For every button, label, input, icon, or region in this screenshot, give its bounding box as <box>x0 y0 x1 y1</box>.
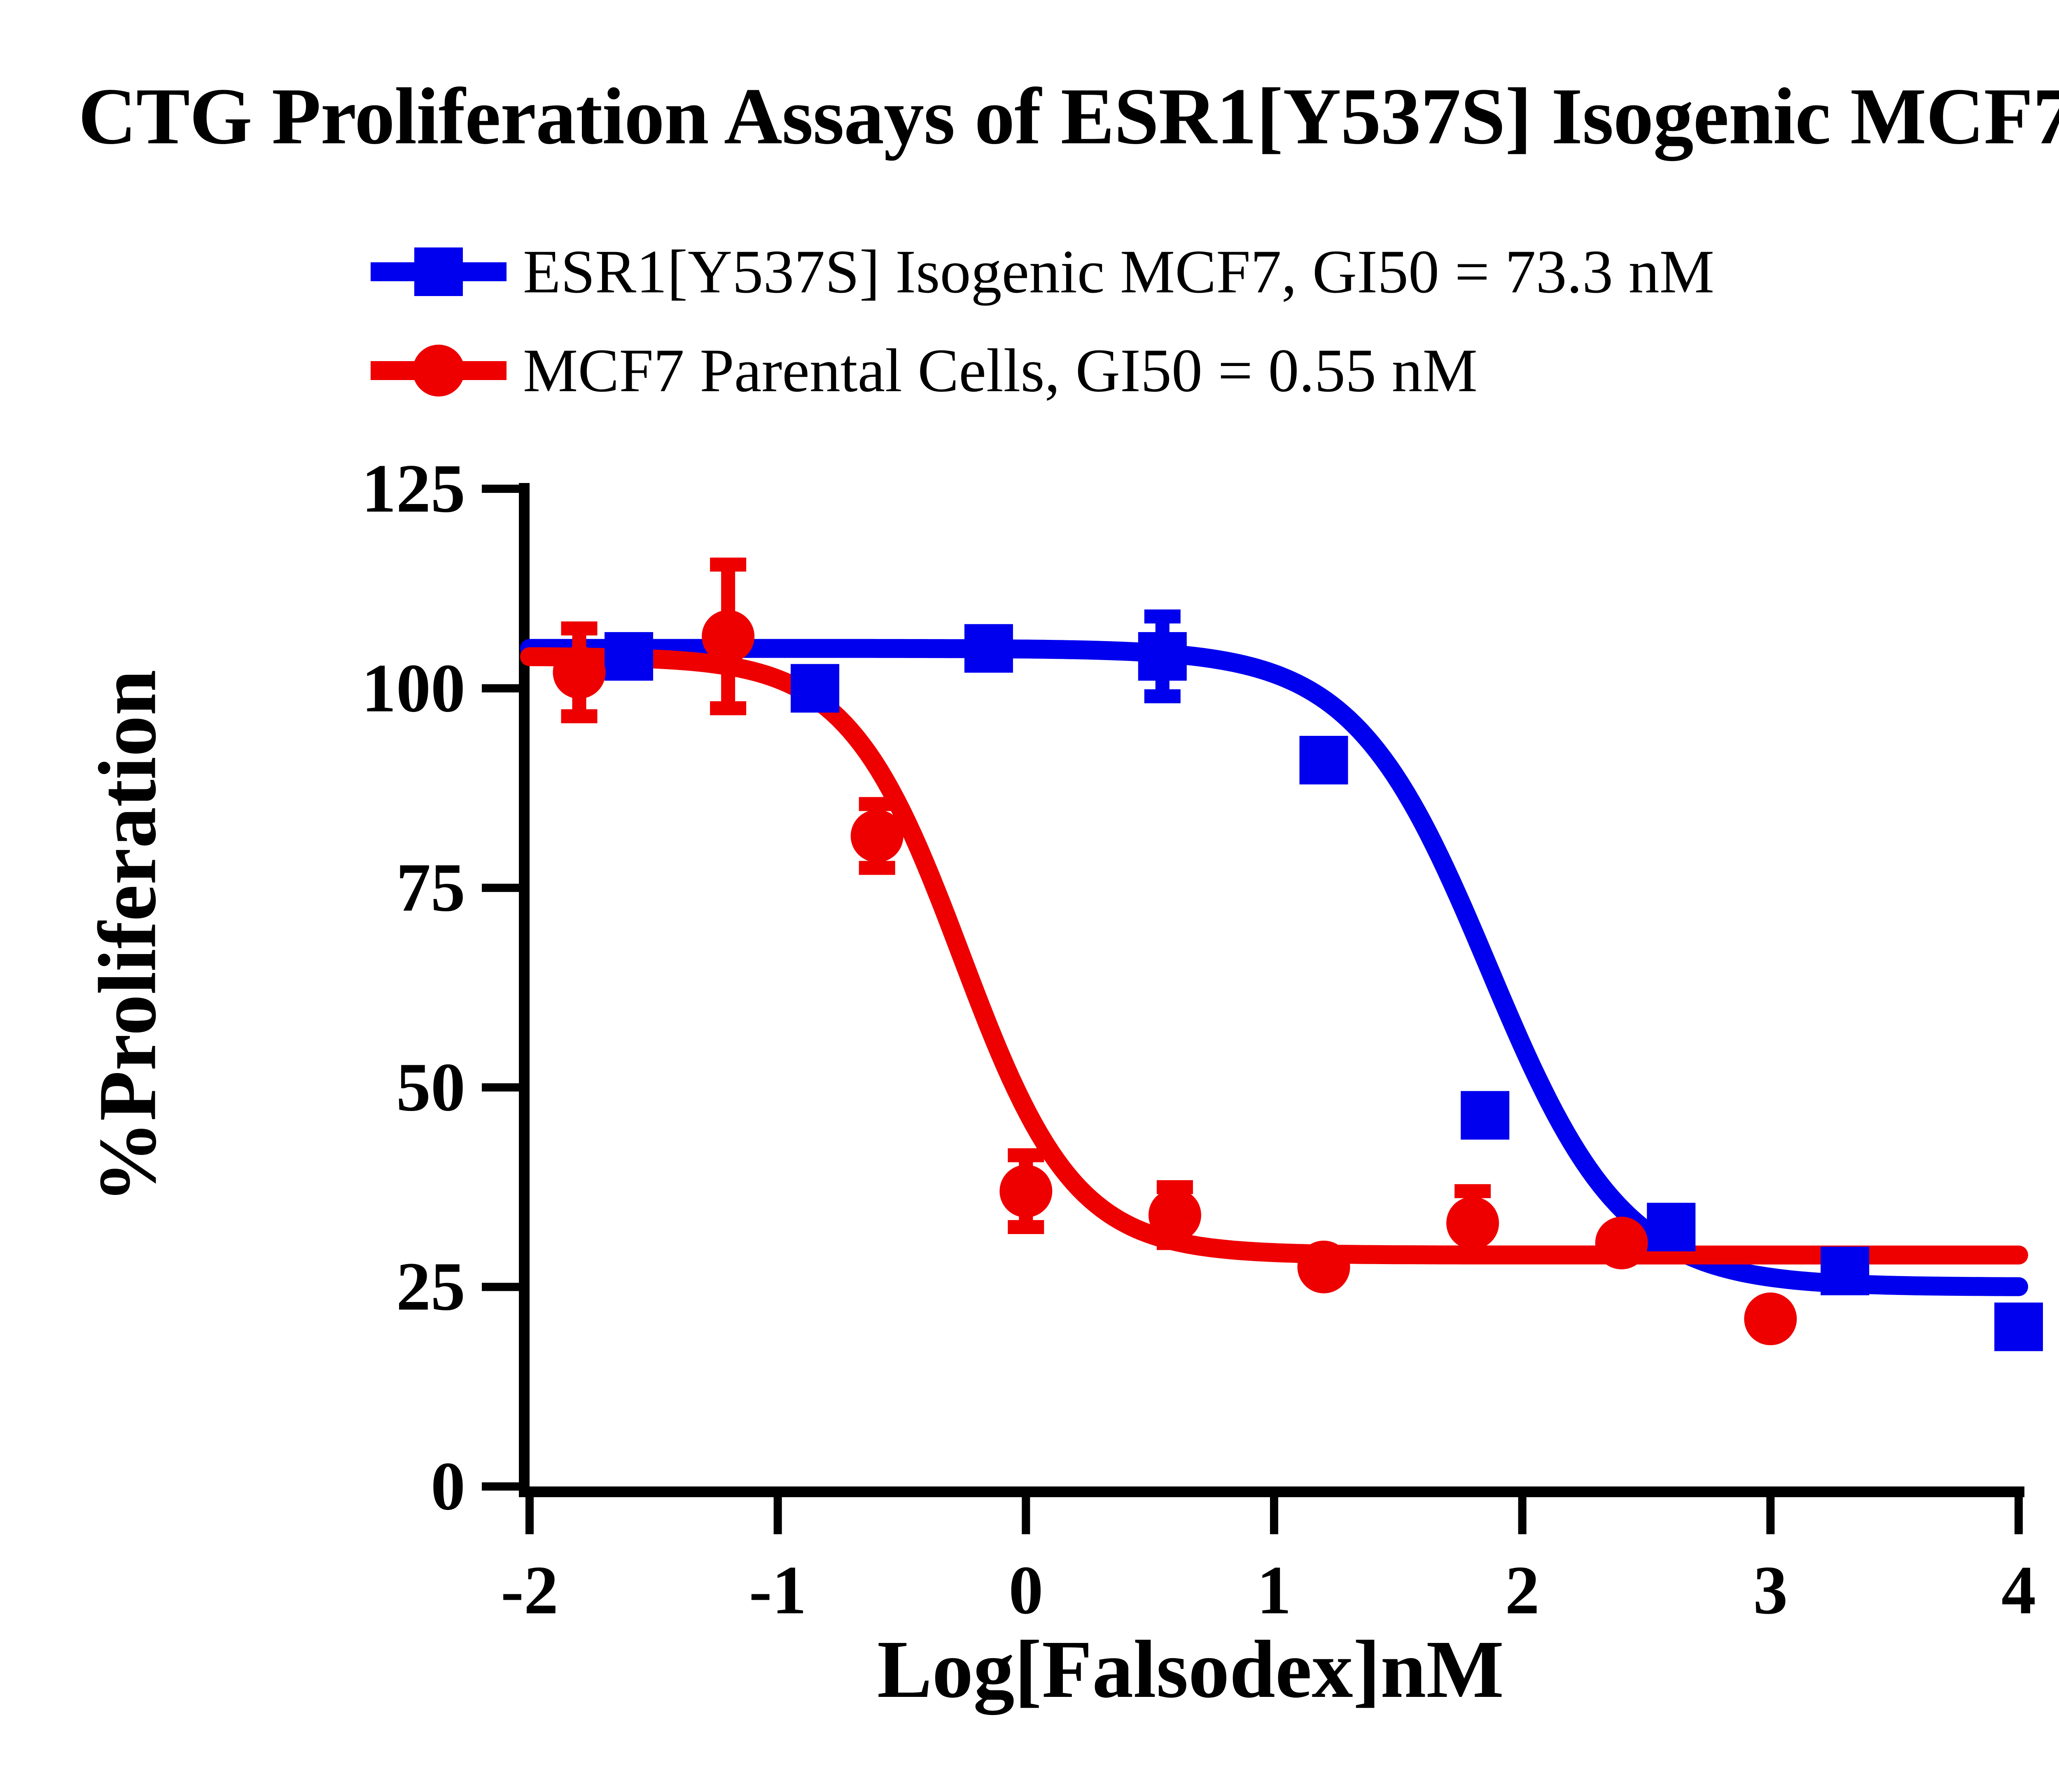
x-tick <box>1518 1497 1527 1534</box>
circle-marker-icon <box>999 1165 1052 1218</box>
y-tick <box>482 485 519 493</box>
y-tick <box>482 1283 519 1291</box>
y-tick-label: 50 <box>292 1048 465 1127</box>
square-marker-icon <box>1138 632 1187 681</box>
y-tick <box>482 1482 519 1491</box>
chart-root: CTG Proliferation Assays of ESR1[Y537S] … <box>0 0 2059 1792</box>
error-bar-cap <box>859 861 895 875</box>
square-marker-icon <box>1821 1247 1869 1295</box>
circle-marker-icon <box>851 810 903 862</box>
circle-marker-icon <box>1149 1189 1201 1241</box>
y-tick <box>482 884 519 892</box>
square-marker-icon <box>791 664 839 713</box>
x-tick-label: 1 <box>1212 1551 1336 1630</box>
circle-marker-icon <box>1595 1217 1648 1269</box>
x-tick-label: -2 <box>468 1551 591 1630</box>
x-tick-label: 0 <box>964 1551 1088 1630</box>
y-tick <box>482 1083 519 1092</box>
circle-marker-icon <box>553 646 606 699</box>
y-tick <box>482 684 519 693</box>
error-bar-cap <box>1454 1248 1491 1262</box>
x-tick <box>1766 1497 1774 1534</box>
error-bar-cap <box>1144 689 1181 703</box>
fit-curves <box>530 649 2019 1287</box>
error-bar-cap <box>859 797 895 811</box>
x-axis-line <box>519 1486 2024 1497</box>
circle-marker-icon <box>702 610 754 663</box>
x-tick <box>525 1497 534 1534</box>
circle-marker-icon <box>1744 1293 1797 1345</box>
square-marker-icon <box>1647 1203 1695 1251</box>
error-bar-cap <box>710 558 746 572</box>
x-tick <box>1270 1497 1278 1534</box>
y-tick-label: 100 <box>292 649 465 728</box>
error-bar-cap <box>1008 1220 1044 1234</box>
y-axis-title: %Proliferation <box>81 525 175 1349</box>
fit-curve <box>530 657 2019 1255</box>
circle-marker-icon <box>1446 1197 1499 1249</box>
y-tick-label: 0 <box>292 1447 465 1526</box>
x-tick <box>774 1497 782 1534</box>
error-bar-cap <box>710 701 746 715</box>
circle-marker-icon <box>1298 1241 1350 1293</box>
error-bar-cap <box>1454 1184 1491 1198</box>
x-tick <box>2015 1497 2023 1534</box>
y-tick-label: 125 <box>292 449 465 529</box>
square-marker-icon <box>605 632 653 681</box>
error-bar-cap <box>1144 609 1181 623</box>
data-markers <box>553 610 2043 1351</box>
y-tick-label: 75 <box>292 848 465 928</box>
x-tick-label: 2 <box>1461 1551 1584 1630</box>
error-bar-cap <box>561 621 598 635</box>
fit-curve <box>530 649 2019 1287</box>
x-tick-label: -1 <box>716 1551 840 1630</box>
x-tick-label: 4 <box>1957 1551 2059 1630</box>
x-tick-label: 3 <box>1709 1551 1832 1630</box>
square-marker-icon <box>1461 1091 1509 1140</box>
error-bar-cap <box>561 709 598 723</box>
y-tick-label: 25 <box>292 1247 465 1327</box>
square-marker-icon <box>964 624 1013 673</box>
y-axis-line <box>519 483 530 1497</box>
square-marker-icon <box>1300 736 1348 784</box>
x-tick <box>1022 1497 1030 1534</box>
x-axis-title: Log[Falsodex]nM <box>877 1622 1504 1717</box>
error-bar-cap <box>1008 1148 1044 1162</box>
square-marker-icon <box>1994 1302 2043 1351</box>
